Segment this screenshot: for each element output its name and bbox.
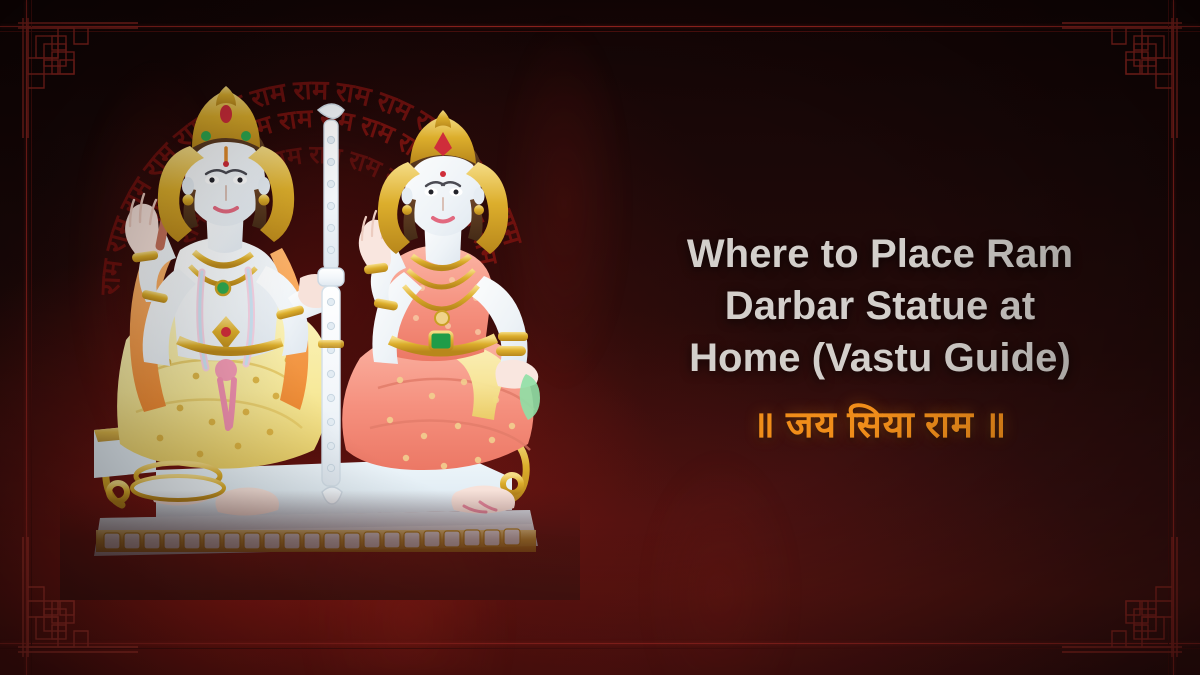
ram-darbar-statue-image: राम राम राम राम राम राम राम राम राम राम …: [60, 40, 580, 600]
headline-line-2: Darbar Statue at: [610, 280, 1150, 332]
headline-block: Where to Place Ram Darbar Statue at Home…: [610, 228, 1150, 447]
headline-line-1: Where to Place Ram: [610, 228, 1150, 280]
goddess-sita-figure: [342, 110, 540, 514]
ram-darbar-banner: राम राम राम राम राम राम राम राम राम राम …: [0, 0, 1200, 675]
headline-line-3: Home (Vastu Guide): [610, 332, 1150, 384]
statue-illustration: [60, 40, 580, 600]
lord-ram-figure: [117, 86, 335, 516]
bow-staff: [318, 104, 344, 504]
page-title: Where to Place Ram Darbar Statue at Home…: [610, 228, 1150, 384]
mantra-text: ॥ जय सिया राम ॥: [610, 406, 1150, 447]
